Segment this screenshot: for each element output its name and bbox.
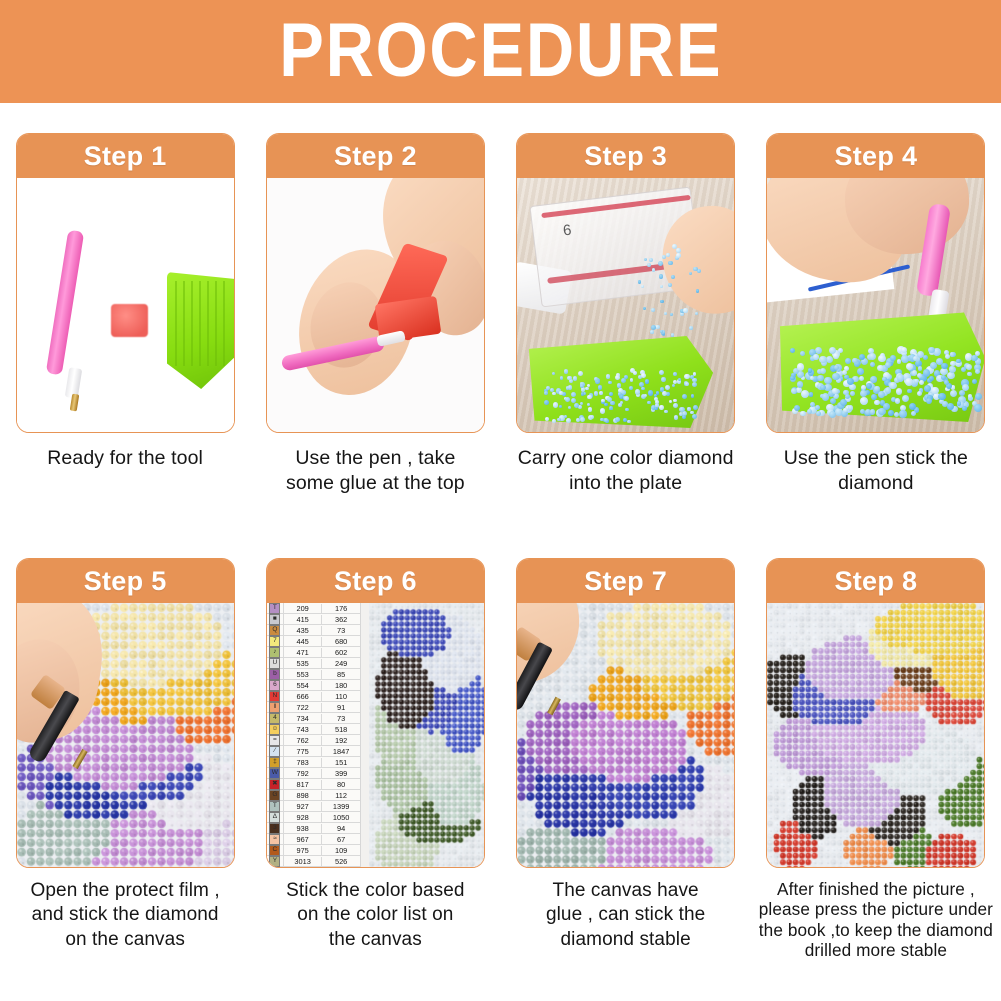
step-card-4[interactable]: Step 4 [766,133,985,433]
step-image-3: 6 [517,178,734,432]
diamond-drill [926,398,932,404]
diamond-drill [641,285,644,288]
color-swatch: ≈ [269,834,280,845]
diamond-drill [559,391,562,394]
diamond-drill [890,355,896,361]
diamond-drill [929,376,934,381]
dmc-code-cell: 898 [284,791,323,800]
count-cell: 73 [322,626,360,635]
diamond-drill [878,391,885,398]
diamond-drill [608,381,611,384]
diamond-drill [573,376,578,381]
diamond-drill [928,347,934,353]
count-cell: 680 [322,637,360,646]
step-header-label-4: Step 4 [834,141,917,172]
step-caption-6: Stick the color based on the color list … [259,879,491,952]
count-cell: 1399 [322,802,360,811]
step-header-label-3: Step 3 [584,141,667,172]
color-swatch: ‖ [269,702,280,713]
diamond-drill [931,387,938,394]
count-cell: 602 [322,648,360,657]
diamond-drill [606,374,610,378]
color-swatch: b [269,669,280,680]
table-row: 473473 [267,713,360,724]
step-cell-2: Step 2 Use the pen , take some glu [250,133,500,496]
step-header-label-6: Step 6 [334,566,417,597]
table-row: C975109 [267,845,360,856]
diamond-drill [885,387,891,393]
step-header-label-7: Step 7 [584,566,667,597]
diamond-drill [975,393,982,400]
color-swatch: G [269,790,280,801]
diamond-drill [833,353,838,358]
diamond-drill [845,358,851,364]
glue-clay-square [111,304,148,337]
count-cell: 80 [322,780,360,789]
diamond-drill [901,355,908,362]
diamond-drill [896,388,903,395]
dmc-code-cell: 535 [284,659,323,668]
diamond-drill [909,403,916,410]
count-cell: 109 [322,846,360,855]
diamond-drill [668,261,673,266]
symbol-cell: Q [267,625,284,635]
diamond-drill [843,408,848,413]
diamond-drill [797,381,803,387]
diamond-drill [810,402,815,407]
diamond-drill [600,408,605,413]
diamond-drill [574,403,579,408]
diamond-drill [950,352,955,357]
diamond-drill [968,394,973,399]
diamond-drill [587,395,592,400]
diamond-drill [645,379,650,384]
diamond-drill [859,354,865,360]
diamond-drill [660,285,663,288]
step-image-4 [767,178,984,432]
symbol-cell: U [267,658,284,668]
diamond-drill [874,400,880,406]
count-cell: 151 [322,758,360,767]
diamond-drill [673,380,677,384]
dmc-code-cell: 927 [284,802,323,811]
hand-with-pen-overlay [17,603,234,867]
count-cell: 1050 [322,813,360,822]
dmc-code-cell: 975 [284,846,323,855]
count-cell: 192 [322,736,360,745]
diamond-drill [684,374,689,379]
table-row: N666110 [267,691,360,702]
diamond-drill [845,394,850,399]
diamond-drill [618,403,622,407]
table-row: ‖72291 [267,702,360,713]
diamond-drill [651,325,656,330]
count-cell: 94 [322,824,360,833]
diamond-drill [655,400,659,404]
diamond-drill [552,419,556,423]
step-cell-4: Step 4 U [751,133,1001,496]
diamond-drill [559,405,562,408]
diamond-drill [693,267,697,271]
step-caption-7: The canvas have glue , can stick the dia… [510,879,742,952]
diamond-drill [683,308,687,312]
diamond-drill [676,253,681,258]
table-row: ⁄7751847 [267,746,360,757]
diamond-drill [674,415,678,419]
diamond-drill [630,378,633,381]
diamond-drill [691,394,695,398]
step-image-5 [17,603,234,867]
diamond-drill [588,407,592,411]
dmc-code-cell: 938 [284,824,323,833]
step-caption-2: Use the pen , take some glue at the top [259,446,491,496]
step-header-label-8: Step 8 [834,566,917,597]
count-cell: 176 [322,604,360,613]
step-card-2[interactable]: Step 2 [266,133,485,433]
diamond-drill [824,377,832,385]
step-header-2: Step 2 [267,134,484,178]
diamond-drill [664,410,668,414]
count-cell: 1847 [322,747,360,756]
diamond-drill [832,388,837,393]
diamond-drill [676,248,681,253]
step-image-7 [517,603,734,867]
diamond-drill [813,354,818,359]
symbol-cell: W [267,768,284,778]
procedure-infographic: PROCEDURE Step 1 [0,0,1001,1001]
diamond-drill [866,383,872,389]
diamond-drill [609,406,613,410]
count-cell: 180 [322,681,360,690]
symbol-cell: 7 [267,636,284,646]
table-row: Q43573 [267,625,360,636]
step-header-3: Step 3 [517,134,734,178]
symbol-cell: G [267,790,284,800]
dmc-code-cell: 817 [284,780,323,789]
color-swatch: Y [269,856,280,867]
diamond-drill [871,394,877,400]
diamond-drill [615,375,620,380]
diamond-drill [604,403,607,406]
diamond-drill [662,391,667,396]
diamond-drill [600,418,604,422]
diamond-drill [895,398,900,403]
step-cell-5: Step 5 Open the protect film , and sti [0,558,250,960]
diamond-drill [660,300,664,304]
pen-tip [72,749,87,769]
symbol-cell: 6 [267,680,284,690]
diamond-drill [618,392,621,395]
diamond-drill [966,364,972,370]
table-row: ‡783151 [267,757,360,768]
symbol-cell: ■ [267,614,284,624]
color-swatch: 7 [269,636,280,647]
diamond-drill [581,392,584,395]
diamond-drill [668,283,672,287]
diamond-drill [974,404,982,412]
diamond-drill [659,405,664,410]
step-card-6[interactable]: Step 6 T209176■415362Q435737445680♪47160… [266,558,485,868]
diamond-drill [648,390,653,395]
color-swatch: ✖ [269,779,280,790]
step-card-8[interactable]: Step 8 [766,558,985,868]
pick-diamond-illustration [767,178,984,432]
diamond-drill [822,393,830,401]
pen-tip [547,697,561,716]
dmc-code-cell: 666 [284,692,323,701]
color-list-illustration: T209176■415362Q435737445680♪471602U53524… [267,603,484,867]
step-image-8 [767,603,984,867]
tool-kit-illustration [17,178,234,432]
page-gutter [361,603,369,867]
diamond-drill [664,312,667,315]
table-row: ≈96767 [267,834,360,845]
symbol-cell: b [267,669,284,679]
color-swatch: ∆ [269,812,280,823]
diamond-drill [899,410,906,417]
diamond-drill [834,365,839,370]
diamond-drill [961,367,966,372]
diamond-drill [647,401,650,404]
diamond-drill [673,403,678,408]
diamond-drill [560,376,563,379]
diamond-drill [869,353,876,360]
diamond-drill [905,378,913,386]
diamond-drill [850,391,855,396]
diamond-drill [659,274,663,278]
hand-with-pen-overlay [517,603,734,867]
diamond-drill [672,244,677,249]
table-row: ♪471602 [267,647,360,658]
diamond-drill [930,362,937,369]
diamond-drill [906,363,913,370]
diamond-drill [594,377,598,381]
table-row: T209176 [267,603,360,614]
table-row: U535249 [267,658,360,669]
symbol-cell: Y [267,856,284,866]
count-cell: 73 [322,714,360,723]
dmc-code-cell: 415 [284,615,323,624]
count-cell: 399 [322,769,360,778]
page-title: PROCEDURE [279,13,722,89]
table-row: ■415362 [267,614,360,625]
step-header-1: Step 1 [17,134,234,178]
diamond-drill [641,373,646,378]
diamond-drill [923,369,930,376]
step-caption-3: Carry one color diamond into the plate [510,446,742,496]
dmc-code-cell: 3013 [284,857,323,866]
step-cell-7: Step 7 The canvas have glue , can stick … [501,558,751,960]
color-swatch: N [269,691,280,702]
count-cell: 91 [322,703,360,712]
dmc-code-cell: 209 [284,604,323,613]
pour-diamonds-illustration: 6 [517,178,734,432]
count-cell: 249 [322,659,360,668]
symbol-cell: ✖ [267,779,284,789]
diamond-drill [902,395,909,402]
diamond-drill [693,372,697,376]
dmc-code-cell: 554 [284,681,323,690]
diamond-drill [658,261,663,266]
step-header-label-5: Step 5 [84,566,167,597]
diamond-drill [918,366,923,371]
symbol-cell: 4 [267,713,284,723]
dmc-code-cell: 967 [284,835,323,844]
diamond-drill [617,383,622,388]
symbol-cell: ⁄ [267,746,284,756]
diamond-drill [671,333,674,336]
diamond-drill [832,373,840,381]
dmc-code-cell: 435 [284,626,323,635]
table-row: T9271399 [267,801,360,812]
step-caption-4: Use the pen stick the diamond [760,446,992,496]
dmc-code-cell: 762 [284,736,323,745]
finished-diamond-painting [767,603,984,867]
symbol-cell: ‡ [267,757,284,767]
count-cell: 85 [322,670,360,679]
diamond-drill [566,418,571,423]
diamond-drill [819,356,826,363]
diamond-drill [857,368,864,375]
color-swatch: = [269,735,280,746]
step-header-5: Step 5 [17,559,234,603]
color-legend-table[interactable]: T209176■415362Q435737445680♪471602U53524… [267,603,361,867]
diamond-drill [860,397,868,405]
diamond-drill [693,405,698,410]
color-swatch: ‡ [269,757,280,768]
dmc-code-cell: 471 [284,648,323,657]
diamond-drill [564,369,569,374]
table-row: b55385 [267,669,360,680]
table-row: G898112 [267,790,360,801]
steps-row-2: Step 5 Open the protect film , and sti [0,558,1001,960]
color-swatch: U [269,658,280,669]
diamond-drill [604,418,608,422]
diamond-drill [627,420,631,424]
dmc-code-cell: 734 [284,714,323,723]
dmc-code-cell: 553 [284,670,323,679]
symbol-cell: ☺ [267,724,284,734]
step-image-6: T209176■415362Q435737445680♪471602U53524… [267,603,484,867]
color-swatch: ♪ [269,647,280,658]
dmc-code-cell: 928 [284,813,323,822]
pink-pen-icon [45,230,83,376]
step-card-5[interactable]: Step 5 [16,558,235,868]
diamond-drill [578,371,583,376]
diamond-drill [852,358,857,363]
symbol-cell: T [267,603,284,613]
table-row: =762192 [267,735,360,746]
diamond-drill [673,399,676,402]
step-caption-8: After finished the picture , please pres… [753,879,999,960]
diamond-drill [553,402,558,407]
diamond-canvas-mosaic [369,603,484,867]
symbol-cell: ≈ [267,834,284,844]
color-swatch: C [269,845,280,856]
step-card-7[interactable]: Step 7 [516,558,735,868]
steps-row-1: Step 1 Ready fo [0,133,1001,496]
diamond-drill [924,385,931,392]
diamond-drill [590,415,594,419]
step-caption-5: Open the protect film , and stick the di… [9,879,241,952]
step-image-2 [267,178,484,432]
diamond-drill [919,380,924,385]
diamond-drill [917,373,922,378]
count-cell: 67 [322,835,360,844]
diamond-drill [585,387,589,391]
step-card-1[interactable]: Step 1 [16,133,235,433]
pen-glue-illustration [267,178,484,432]
diamond-drill [615,417,620,422]
dmc-code-cell: 783 [284,758,323,767]
table-row: 7445680 [267,636,360,647]
symbol-cell: ♪ [267,647,284,657]
diamond-drill [801,390,809,398]
symbol-cell: = [267,735,284,745]
color-swatch: 4 [269,713,280,724]
diamond-drill [860,390,867,397]
symbol-cell: ‖ [267,702,284,712]
diamond-drill [652,268,655,271]
diamond-drill [800,351,805,356]
diamond-drill [568,385,572,389]
diamond-drill [650,330,654,334]
table-row: ✖81780 [267,779,360,790]
diamond-drill [666,253,670,257]
diamond-drill [947,403,954,410]
step-header-8: Step 8 [767,559,984,603]
diamond-drill [941,363,947,369]
color-swatch: ⁄ [269,746,280,757]
step-header-7: Step 7 [517,559,734,603]
symbol-cell: 3 [267,823,284,833]
count-cell: 362 [322,615,360,624]
step-cell-3: Step 3 6 Carry one col [501,133,751,496]
symbol-cell: ∆ [267,812,284,822]
count-cell: 526 [322,857,360,866]
table-row: Y3013526 [267,856,360,867]
dmc-code-cell: 722 [284,703,323,712]
dmc-code-cell: 743 [284,725,323,734]
color-swatch: W [269,768,280,779]
color-swatch: T [269,603,280,614]
dmc-code-cell: 775 [284,747,323,756]
diamond-drill [870,409,876,415]
diamond-drill [629,386,633,390]
count-cell: 112 [322,791,360,800]
step-image-1 [17,178,234,432]
step-cell-8: Step 8 After finished the picture , plea… [751,558,1001,960]
table-row: 6554180 [267,680,360,691]
symbol-cell: T [267,801,284,811]
diamond-drill [607,397,612,402]
green-tray [167,272,234,389]
step-header-4: Step 4 [767,134,984,178]
diamond-drill [897,374,904,381]
diamond-drill [651,308,655,312]
diamond-drill [888,410,894,416]
step-header-label-1: Step 1 [84,141,167,172]
step-card-3[interactable]: Step 3 6 [516,133,735,433]
step-header-6: Step 6 [267,559,484,603]
table-row: ☺743518 [267,724,360,735]
diamond-drill [544,400,549,405]
count-cell: 518 [322,725,360,734]
diamond-drill [815,347,822,354]
page-banner: PROCEDURE [0,0,1001,103]
symbol-cell: C [267,845,284,855]
diamond-drill [623,418,627,422]
